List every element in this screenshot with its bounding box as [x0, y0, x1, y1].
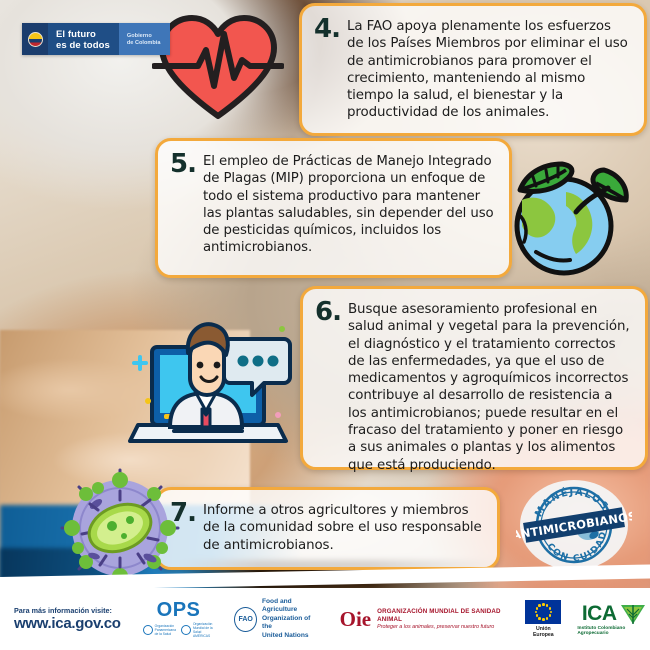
eu-label: Unión Europea: [525, 626, 561, 638]
oie-tagline: Proteger a los animales, preservar nuest…: [377, 624, 509, 631]
tip-text-6: Busque asesoramiento profesional en salu…: [348, 299, 631, 457]
government-entity: Gobierno de Colombia: [119, 23, 171, 55]
tip-text-7: Informe a otros agricultores y miembros …: [203, 500, 483, 557]
heart-pulse-icon: [152, 8, 284, 124]
antimicrobials-stamp: MANÉJALOS CON CUIDADO ANTIMICROBIANOS: [516, 479, 632, 571]
ops-org2: Organización Mundial de la Salud AMÉRICA…: [193, 622, 214, 638]
tip-card-7: 7. Informe a otros agricultores y miembr…: [155, 487, 500, 570]
footer-info-label: Para más información visite:: [14, 606, 121, 615]
tip-text-5: El empleo de Prácticas de Manejo Integra…: [203, 151, 495, 265]
colombia-coat-of-arms-icon: [22, 23, 48, 55]
ica-leaf-icon: [620, 603, 646, 625]
logo-ops: OPS Organización Panamericana de la Salu…: [143, 600, 215, 638]
footer-bar: Para más información visite: www.ica.gov…: [0, 588, 650, 650]
ops-org1: Organización Panamericana de la Salud: [155, 624, 176, 636]
globe-plant-icon: [492, 148, 640, 280]
online-doctor-icon: [118, 305, 296, 455]
government-logo: El futuro es de todos Gobierno de Colomb…: [22, 23, 170, 55]
tip-card-5: 5. El empleo de Prácticas de Manejo Inte…: [155, 138, 512, 278]
tip-card-6: 6. Busque asesoramiento profesional en s…: [300, 286, 648, 470]
logo-oie: Oie ORGANIZACIÓN MUNDIAL DE SANIDAD ANIM…: [340, 608, 510, 631]
tip-number-5: 5.: [170, 151, 203, 265]
tip-number-6: 6.: [315, 299, 348, 457]
tip-card-4: 4. La FAO apoya plenamente los esfuerzos…: [299, 3, 647, 136]
oms-seal-icon: [181, 625, 191, 635]
footer-url[interactable]: www.ica.gov.co: [14, 615, 121, 632]
government-slogan: El futuro es de todos: [48, 23, 119, 55]
eu-flag-icon: [525, 600, 561, 624]
ops-title: OPS: [143, 600, 215, 620]
tip-number-4: 4.: [314, 16, 347, 123]
tip-text-4: La FAO apoya plenamente los esfuerzos de…: [347, 16, 630, 123]
fao-seal-icon: FAO: [234, 607, 257, 632]
oie-wordmark: Oie: [340, 609, 372, 630]
oie-title: ORGANIZACIÓN MUNDIAL DE SANIDAD ANIMAL: [377, 608, 509, 624]
logo-fao: FAO Food and Agriculture Organization of…: [234, 598, 321, 640]
ops-seal-icon: [143, 625, 153, 635]
footer-website[interactable]: Para más información visite: www.ica.gov…: [14, 606, 121, 632]
logo-ica: ICA Instituto Colombiano Agropecuario: [577, 603, 650, 636]
microbe-icon: [58, 468, 182, 586]
infographic-poster: El futuro es de todos Gobierno de Colomb…: [0, 0, 650, 650]
logo-european-union: Unión Europea: [525, 600, 561, 638]
ica-title: ICA: [582, 603, 617, 624]
ica-subtitle: Instituto Colombiano Agropecuario: [577, 626, 650, 636]
fao-text: Food and Agriculture Organization of the…: [262, 598, 322, 640]
